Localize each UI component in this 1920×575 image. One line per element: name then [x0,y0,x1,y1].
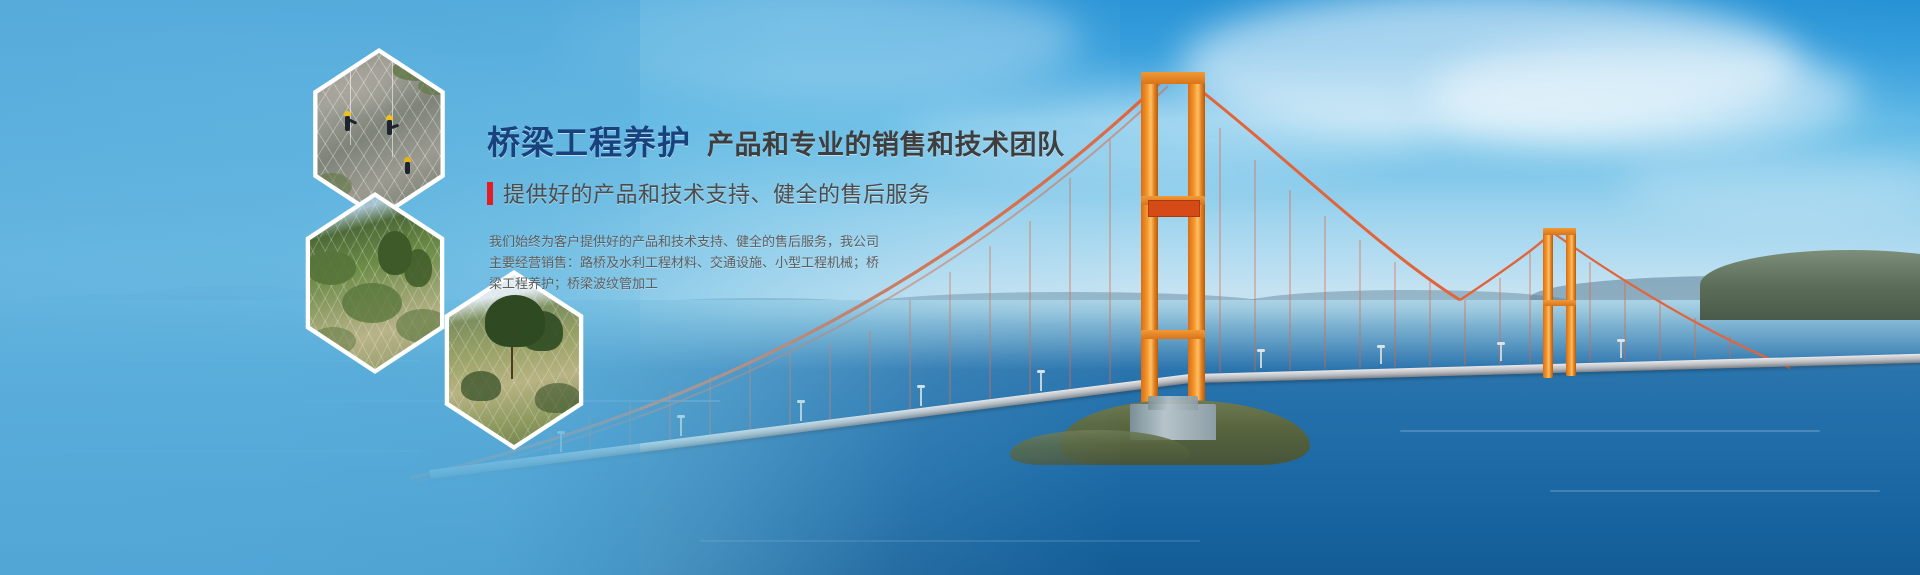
hero-subtitle: 提供好的产品和技术支持、健全的售后服务 [503,177,931,209]
accent-bar-icon [487,182,493,205]
hero-subtitle-row: 提供好的产品和技术支持、健全的售后服务 [487,177,1107,209]
tower-sign [1148,200,1200,217]
headline-primary: 桥梁工程养护 [487,124,691,161]
hero-paragraph: 我们始终为客户提供好的产品和技术支持、健全的售后服务，我公司主要经营销售：路桥及… [489,231,881,294]
hero-banner: 桥梁工程养护产品和专业的销售和技术团队 提供好的产品和技术支持、健全的售后服务 … [0,0,1920,575]
hero-headline: 桥梁工程养护产品和专业的销售和技术团队 [487,126,1107,159]
headline-secondary: 产品和专业的销售和技术团队 [707,130,1065,160]
hero-text-block: 桥梁工程养护产品和专业的销售和技术团队 提供好的产品和技术支持、健全的售后服务 … [487,126,1107,294]
